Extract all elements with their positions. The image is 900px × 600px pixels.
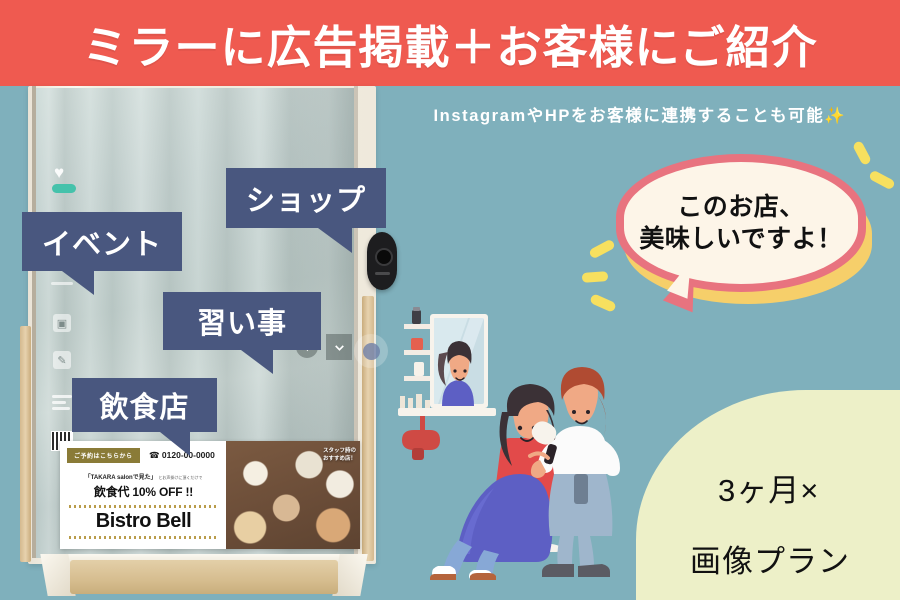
ad-info-panel: ご予約はこちらから ☎ 0120-00-0000 「TAKARA salonで見…: [60, 441, 226, 549]
mirror-ad-card[interactable]: ご予約はこちらから ☎ 0120-00-0000 「TAKARA salonで見…: [60, 441, 360, 549]
bubble-content: このお店、 美味しいですよ！: [624, 162, 858, 284]
bubble-line-2: 美味しいですよ！: [639, 223, 842, 256]
heart-icon[interactable]: ♥: [54, 164, 64, 181]
camera-icon[interactable]: ▣: [53, 314, 71, 332]
bubble-tail: [160, 432, 190, 456]
mirror-leg-left: [20, 326, 31, 562]
salon-illustration: [398, 288, 634, 580]
sliders-icon[interactable]: [52, 394, 72, 410]
mirror-camera-device: [367, 232, 397, 290]
mirror-base: [70, 560, 338, 594]
bubble-tail: [318, 228, 352, 253]
category-bubble-lesson-label: 習い事: [197, 300, 287, 342]
category-bubble-restaurant-label: 飲食店: [99, 384, 189, 426]
category-bubble-lesson[interactable]: 習い事: [163, 292, 321, 350]
bubble-tail: [241, 350, 273, 374]
ad-discount: 飲食代 10% OFF !!: [67, 483, 220, 500]
category-bubble-event[interactable]: イベント: [22, 212, 182, 271]
plan-badge-text: 3ヶ月× 画像プラン: [690, 448, 900, 598]
heart-badge: [52, 184, 76, 193]
mirror-power-button[interactable]: [354, 334, 388, 368]
plan-duration: 3ヶ月×: [718, 465, 819, 510]
ad-quote-main: 「TAKARA salonで見た」: [85, 475, 157, 481]
subtitle-text: InstagramやHPをお客様に連携することも可能✨: [390, 98, 890, 130]
bubble-tail: [62, 271, 94, 295]
chevron-down-icon[interactable]: [326, 334, 352, 360]
ad-staff-tag: スタッフ詩のおすすめ店！: [323, 447, 356, 464]
reserve-badge: ご予約はこちらから: [67, 448, 140, 463]
header-banner: ミラーに広告掲載＋お客様にご紹介: [0, 0, 900, 86]
ad-quote-sub: とお声掛けに頂くだけで: [158, 475, 202, 480]
category-bubble-event-label: イベント: [42, 221, 162, 263]
customer-speech-bubble: このお店、 美味しいですよ！: [612, 148, 880, 318]
banner-title: ミラーに広告掲載＋お客様にご紹介: [82, 11, 817, 76]
poster-canvas: ミラーに広告掲載＋お客様にご紹介 InstagramやHPをお客様に連携すること…: [0, 0, 900, 600]
note-icon[interactable]: ✎: [53, 351, 71, 369]
ad-quote: 「TAKARA salonで見た」 とお声掛けに頂くだけで: [67, 472, 220, 481]
frame-edge-left: [32, 86, 36, 558]
ad-shop-name: Bistro Bell: [67, 511, 220, 531]
category-bubble-shop[interactable]: ショップ: [226, 168, 386, 228]
ad-divider-bottom: [69, 536, 218, 539]
plan-type: 画像プラン: [690, 536, 850, 581]
chevron-glyph: [333, 341, 346, 354]
category-bubble-shop-label: ショップ: [246, 177, 366, 219]
dash-decoration-icon: [582, 271, 609, 283]
category-bubble-restaurant[interactable]: 飲食店: [72, 378, 217, 432]
ad-food-photo: スタッフ詩のおすすめ店！: [226, 441, 360, 549]
ad-divider-top: [69, 505, 218, 508]
bubble-line-1: このお店、: [677, 191, 805, 224]
